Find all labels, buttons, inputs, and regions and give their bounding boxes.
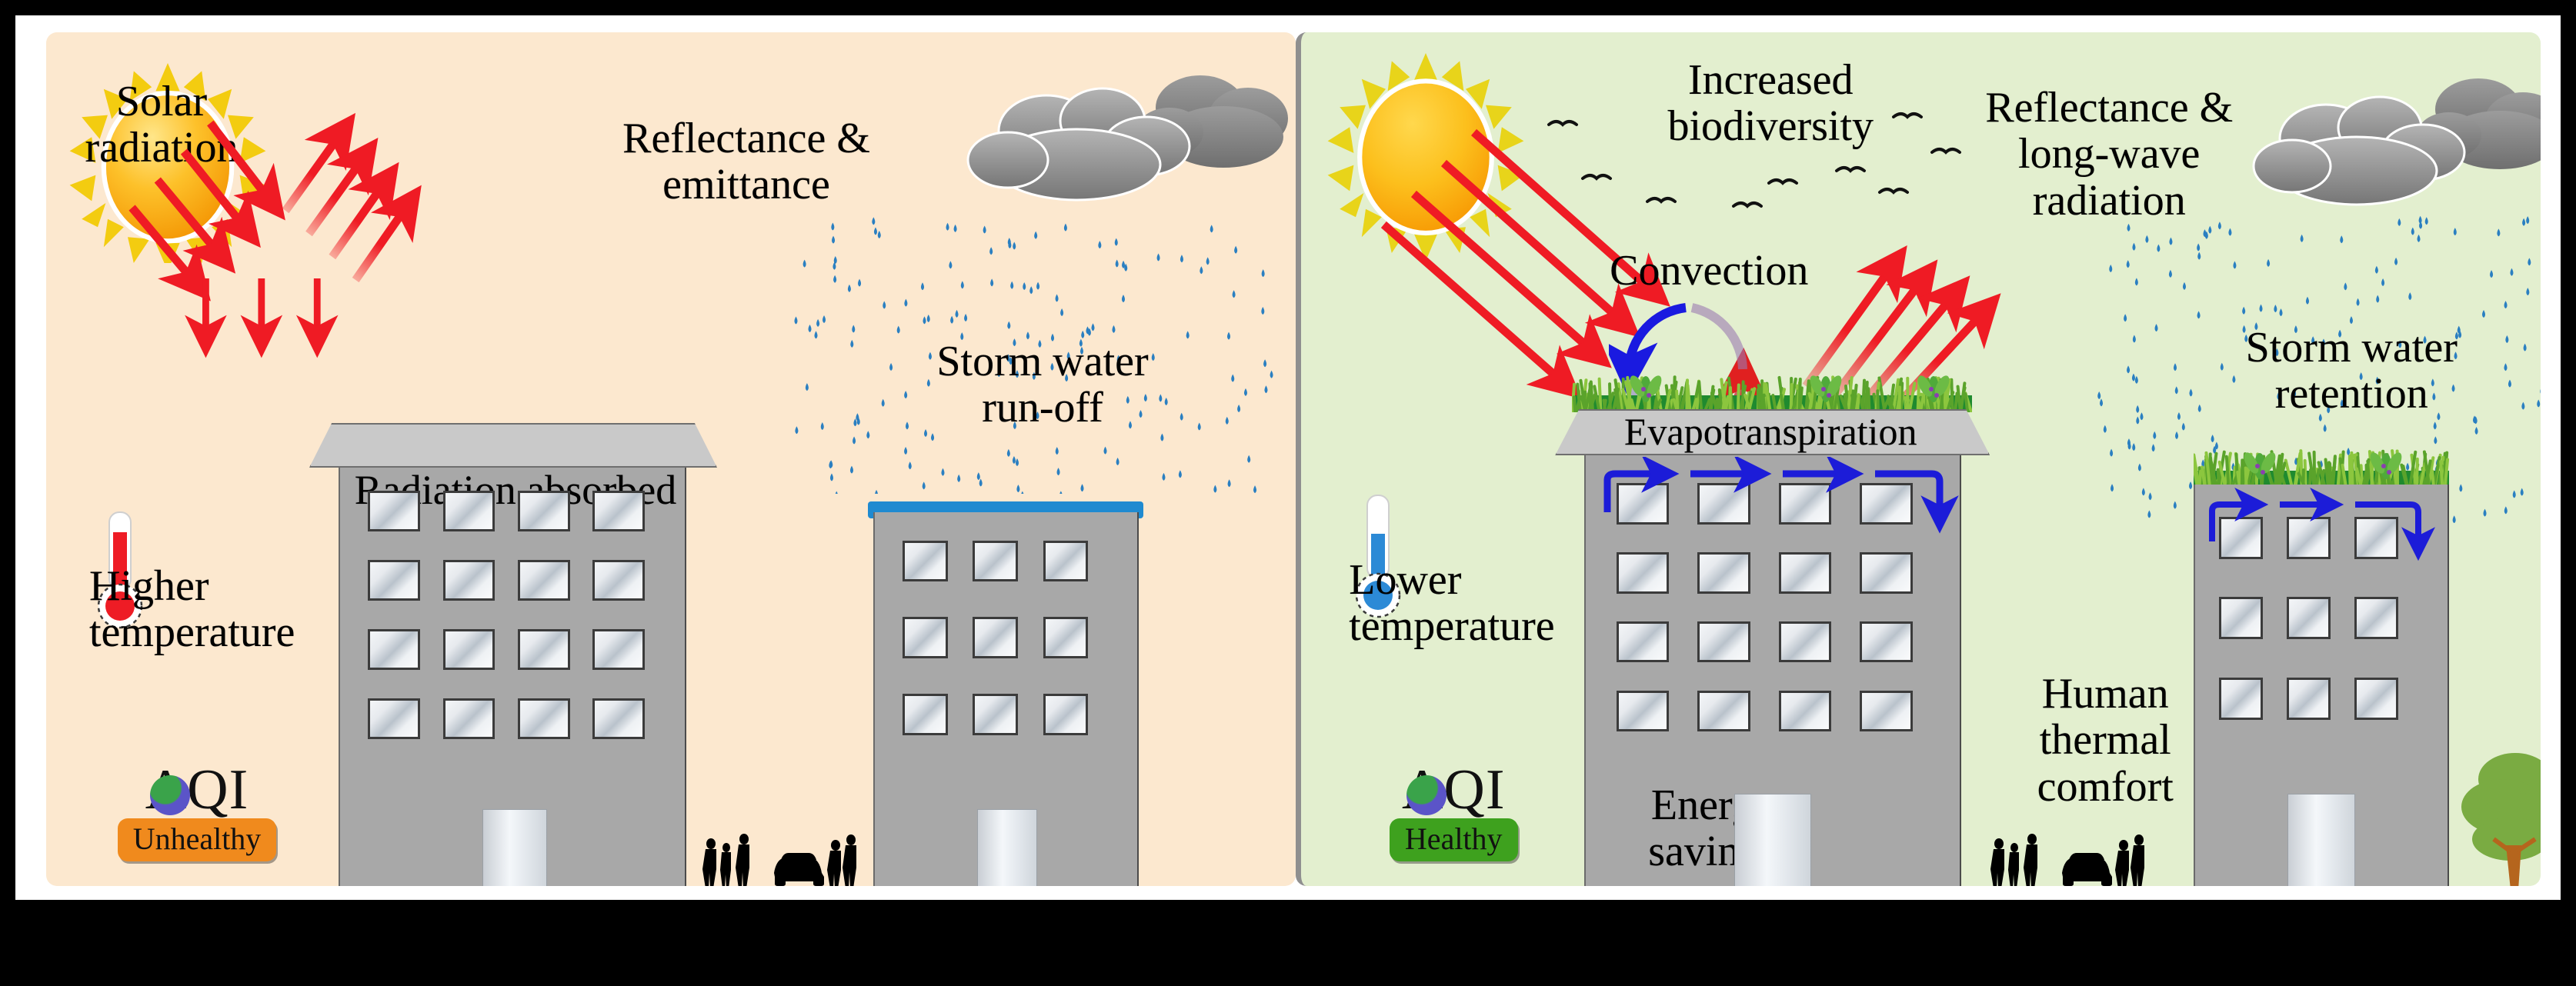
right-panel-green-roof: Increased biodiversity: [1296, 32, 2541, 886]
window: [443, 491, 496, 531]
evapotranspiration-label: Evapotranspiration: [1547, 411, 1994, 452]
building-a-door-left: [482, 809, 547, 886]
window: [368, 560, 420, 601]
solar-radiation-label: Solar radiation: [54, 78, 269, 172]
cloud-icon: [916, 63, 1296, 240]
window: [592, 560, 645, 601]
aqi-indicator-left: AQI Unhealthy: [74, 763, 320, 861]
window: [1043, 694, 1089, 735]
window: [518, 629, 570, 670]
building-b-door-left: [977, 809, 1037, 886]
energy-flow-arrows-right: [1584, 457, 1961, 549]
window: [1779, 621, 1832, 662]
window: [1697, 691, 1750, 731]
window: [518, 491, 570, 531]
window: [2287, 597, 2330, 639]
reflectance-emittance-label: Reflectance & emittance: [585, 115, 908, 208]
window: [973, 694, 1018, 735]
window: [1860, 691, 1913, 731]
window: [1697, 552, 1750, 593]
lower-temperature-label: Lower temperature: [1349, 557, 1610, 650]
window: [2287, 678, 2330, 720]
figure-card: Solar radiation: [15, 15, 2561, 900]
green-roof-vegetation-a: [1572, 357, 1972, 412]
left-panel-conventional-roof: Solar radiation: [46, 32, 1296, 886]
window: [1860, 552, 1913, 593]
window: [518, 560, 570, 601]
window: [1617, 552, 1670, 593]
window: [903, 694, 948, 735]
window: [1043, 617, 1089, 658]
window: [973, 617, 1018, 658]
window: [1043, 541, 1089, 582]
building-a-door-right: [1734, 794, 1811, 886]
window: [1617, 691, 1670, 731]
building-b-door-right: [2287, 794, 2355, 886]
green-roof-vegetation-b: [2194, 434, 2449, 486]
window: [443, 560, 496, 601]
pedestrian-icon: [1990, 828, 2151, 886]
window: [368, 698, 420, 739]
window: [973, 541, 1018, 582]
window: [443, 629, 496, 670]
higher-temperature-label: Higher temperature: [89, 563, 343, 656]
sun-icon: [1326, 49, 1526, 257]
window: [592, 698, 645, 739]
tree-icon: [2455, 736, 2541, 886]
globe-icon: [150, 775, 190, 815]
window: [368, 491, 420, 531]
aqi-label-right: AQI: [1330, 763, 1577, 817]
window: [518, 698, 570, 739]
aqi-status-badge-right: Healthy: [1390, 818, 1518, 861]
window: [1779, 552, 1832, 593]
window: [592, 629, 645, 670]
window: [2354, 678, 2397, 720]
window: [443, 698, 496, 739]
energy-flow-arrows-building-b: [2194, 488, 2449, 572]
window: [2354, 597, 2397, 639]
window: [1860, 621, 1913, 662]
window: [903, 617, 948, 658]
window: [1779, 691, 1832, 731]
globe-icon: [1406, 775, 1446, 815]
aqi-indicator-right: AQI Healthy: [1330, 763, 1577, 861]
storm-water-retention-label: Storm water retention: [2186, 325, 2517, 418]
window: [2219, 678, 2262, 720]
window: [903, 541, 948, 582]
pedestrian-icon: [702, 828, 863, 886]
comparison-panels: Solar radiation: [46, 32, 2541, 886]
building-a-roof-left: [309, 423, 717, 468]
window: [1617, 621, 1670, 662]
convection-label: Convection: [1555, 248, 1863, 294]
window: [1697, 621, 1750, 662]
window: [368, 629, 420, 670]
aqi-status-badge-left: Unhealthy: [118, 818, 277, 861]
window: [2219, 597, 2262, 639]
aqi-label-left: AQI: [74, 763, 320, 817]
storm-water-runoff-label: Storm water run-off: [877, 338, 1208, 431]
window: [592, 491, 645, 531]
